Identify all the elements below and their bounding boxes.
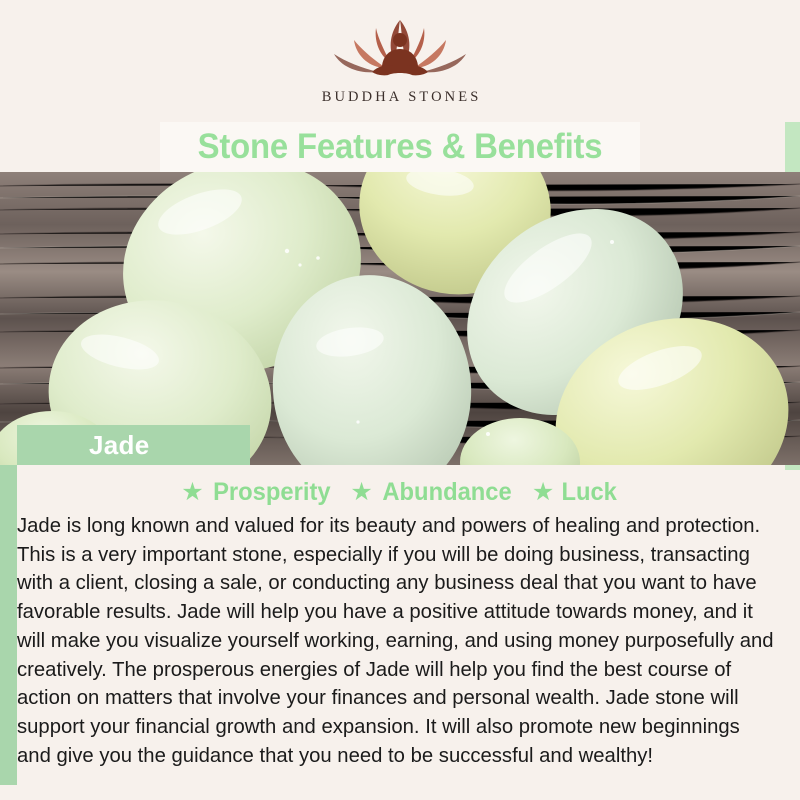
benefit-item: ★ Abundance: [350, 478, 515, 507]
stone-name-label: Jade: [89, 430, 149, 461]
page-title: Stone Features & Benefits: [24, 122, 776, 172]
benefit-label: Prosperity: [213, 478, 330, 507]
stone-name-banner: Jade: [17, 425, 250, 465]
description-text: Jade is long known and valued for its be…: [17, 512, 776, 770]
star-icon: ★: [532, 480, 554, 505]
benefit-label: Abundance: [382, 478, 511, 507]
description-block: Jade is long known and valued for its be…: [17, 512, 776, 770]
lotus-meditation-icon: [324, 14, 476, 86]
jade-stones-photo: [0, 172, 800, 465]
star-icon: ★: [181, 480, 203, 505]
benefit-item: ★ Prosperity: [181, 478, 333, 507]
brand-wordmark: BUDDHA STONES: [319, 89, 482, 106]
benefit-item: ★ Luck: [532, 478, 619, 507]
infographic-card: BUDDHA STONES Stone Features & Benefits …: [0, 0, 800, 800]
benefits-row: ★ Prosperity ★ Abundance ★ Luck: [0, 478, 800, 507]
brand-header: BUDDHA STONES: [0, 0, 800, 122]
benefit-label: Luck: [562, 478, 617, 507]
star-icon: ★: [350, 480, 372, 505]
